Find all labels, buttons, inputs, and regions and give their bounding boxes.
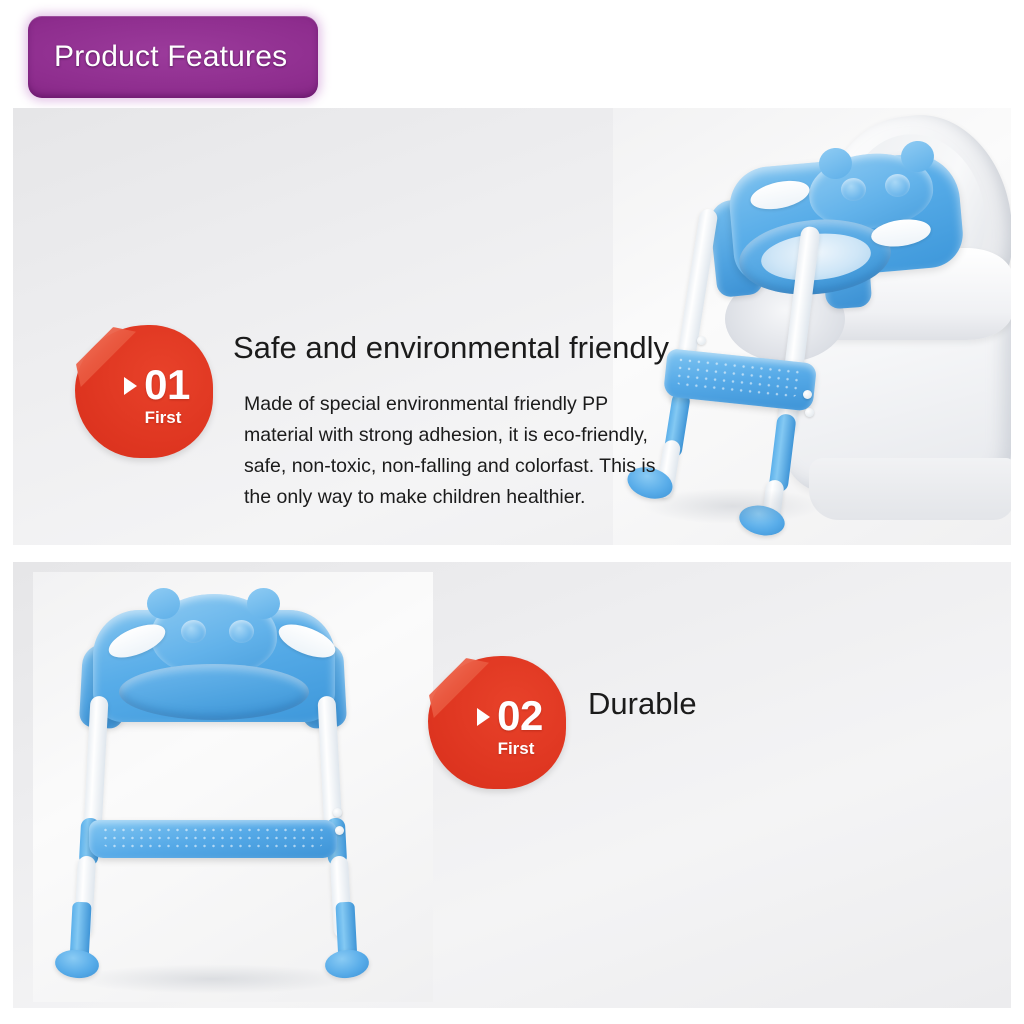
panda-eye-left: [181, 620, 206, 643]
ladder-knob-right-a: [803, 390, 812, 399]
toilet-base: [809, 458, 1011, 520]
ladder-knob-left: [697, 336, 706, 345]
play-triangle-icon: [477, 708, 490, 726]
badge-sublabel: First: [498, 739, 535, 759]
ladder-knob-right-b: [335, 826, 344, 835]
product-photo-seat-standalone: [33, 572, 433, 1002]
badge-content: 02 First: [428, 656, 566, 789]
feature-heading-1: Safe and environmental friendly: [233, 330, 669, 366]
badge-number: 02: [497, 695, 543, 737]
panda-eye-right: [229, 620, 254, 643]
panda-ear-right: [247, 588, 280, 619]
feature-badge-02: 02 First: [428, 656, 566, 789]
panda-eye-left: [841, 178, 866, 201]
badge-sublabel: First: [145, 408, 182, 428]
floor-shadow: [73, 964, 353, 994]
badge-number: 01: [144, 364, 190, 406]
badge-number-row: 01: [124, 364, 190, 406]
feature-panel-1: 01 First Safe and environmental friendly…: [13, 108, 1011, 545]
feature-body-1: Made of special environmental friendly P…: [244, 389, 664, 513]
play-triangle-icon: [124, 377, 137, 395]
banner-title: Product Features: [28, 40, 287, 74]
ladder-knob-right-b: [805, 408, 814, 417]
feature-panel-2: 02 First Durable: [13, 562, 1011, 1008]
ladder-knob-right-a: [333, 808, 342, 817]
floor-shadow: [643, 488, 823, 524]
feature-heading-2: Durable: [588, 686, 697, 722]
banner-pill: Product Features: [28, 16, 318, 98]
product-features-banner: Product Features: [28, 16, 318, 98]
product-photo-seat-on-toilet: [613, 108, 1011, 545]
feature-badge-01: 01 First: [75, 325, 213, 458]
panda-ear-left: [147, 588, 180, 619]
badge-content: 01 First: [75, 325, 213, 458]
ladder-step-texture: [101, 826, 325, 848]
panda-eye-right: [885, 174, 910, 197]
badge-number-row: 02: [477, 695, 543, 737]
seat-ring: [119, 664, 309, 720]
